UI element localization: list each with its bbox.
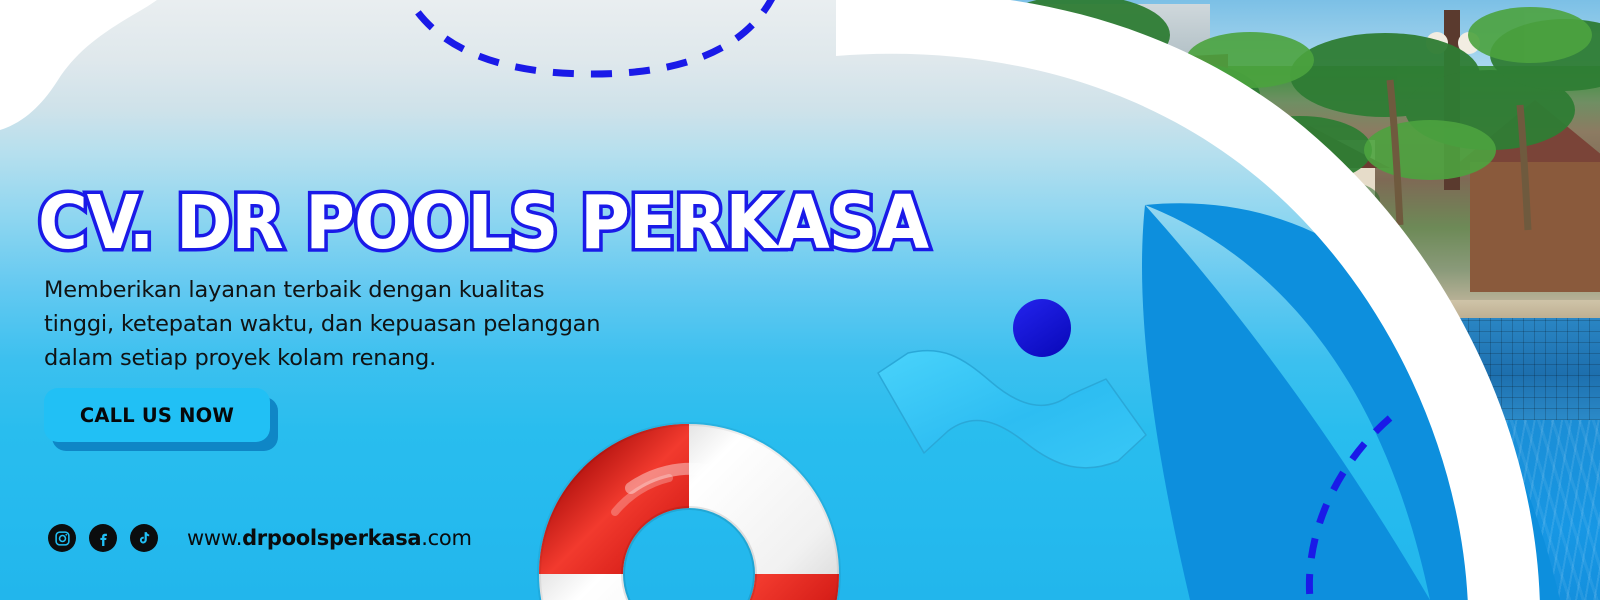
url-brand: drpoolsperkasa bbox=[242, 526, 421, 550]
swimmer-wave-mark bbox=[850, 295, 1170, 475]
call-us-now-button[interactable]: CALL US NOW bbox=[44, 388, 270, 442]
url-suffix: .com bbox=[421, 526, 471, 550]
tiktok-icon[interactable] bbox=[130, 524, 158, 552]
instagram-icon[interactable] bbox=[48, 524, 76, 552]
lifebuoy-ring bbox=[533, 418, 845, 600]
url-prefix: www. bbox=[187, 526, 242, 550]
page-title: CV. DR POOLS PERKASA bbox=[38, 186, 928, 260]
subtitle-text: Memberikan layanan terbaik dengan kualit… bbox=[44, 273, 604, 375]
facebook-icon[interactable] bbox=[89, 524, 117, 552]
promo-banner: CV. DR POOLS PERKASA Memberikan layanan … bbox=[0, 0, 1600, 600]
website-url[interactable]: www.drpoolsperkasa.com bbox=[187, 526, 472, 550]
footer-bar: www.drpoolsperkasa.com bbox=[48, 524, 472, 552]
